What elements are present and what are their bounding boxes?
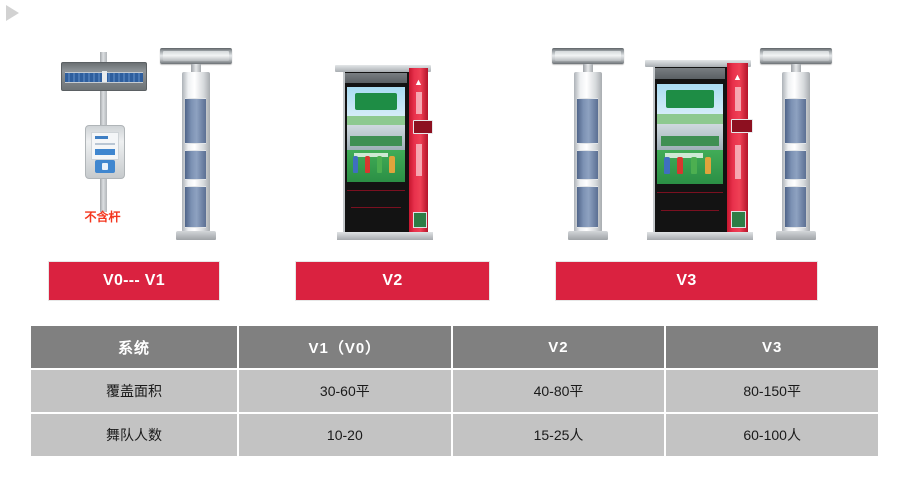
controller-line-2 <box>95 143 115 145</box>
cell-team-v1: 10-20 <box>239 414 451 456</box>
screen-bin-green <box>377 156 382 172</box>
screen-bin-red <box>365 156 370 172</box>
controller-bar <box>95 149 115 155</box>
table-header-row: 系统 V1（V0） V2 V3 <box>31 326 878 368</box>
pole-base <box>176 231 216 240</box>
table-header-cell-v3: V3 <box>666 326 878 368</box>
product-v1-pole <box>160 40 232 240</box>
version-label-v0-v1: V0--- V1 <box>48 261 220 301</box>
pole-base <box>568 231 608 240</box>
controller-display <box>91 132 119 160</box>
screen-bin-label <box>665 153 703 158</box>
screen-bin-red <box>677 157 683 174</box>
cell-team-v3: 60-100人 <box>666 414 878 456</box>
cell-coverage-v2: 40-80平 <box>453 370 665 412</box>
cell-coverage-v3: 80-150平 <box>666 370 878 412</box>
kiosk-decor-line <box>347 190 405 191</box>
screen-bin-label <box>354 153 388 158</box>
pole-panel <box>577 150 598 180</box>
controller-line-1 <box>95 136 108 139</box>
table-header-cell-v1: V1（V0） <box>239 326 451 368</box>
kiosk-vent <box>345 73 407 83</box>
kiosk-vertical-text <box>735 145 741 179</box>
lamp-bar <box>760 48 832 64</box>
cell-coverage-v1: 30-60平 <box>239 370 451 412</box>
product-showcase: 不含杆 ▲ <box>0 40 900 240</box>
product-v0: 不含杆 <box>55 40 150 240</box>
screen-bin-yellow <box>389 156 394 172</box>
row-label-coverage-area: 覆盖面积 <box>31 370 237 412</box>
screen-bin-yellow <box>705 157 711 174</box>
kiosk-vertical-text <box>416 92 422 114</box>
wifi-icon: ▲ <box>414 78 424 86</box>
speaker-bar <box>61 62 147 91</box>
pole-body <box>574 72 602 232</box>
lamp-bar <box>552 48 624 64</box>
pole-panel <box>785 186 806 228</box>
product-v3-kiosk: ▲ <box>645 60 755 240</box>
kiosk-decor-line <box>657 192 723 193</box>
speaker-center-hole <box>102 71 107 82</box>
screen-bin-green <box>691 157 697 174</box>
kiosk-decor-line <box>661 210 719 211</box>
kiosk-base <box>647 232 753 240</box>
kiosk-decor-line <box>351 207 401 208</box>
cell-team-v2: 15-25人 <box>453 414 665 456</box>
screen-title-banner <box>355 93 397 110</box>
screen-mid-banner <box>350 136 401 146</box>
screen-bin-blue <box>353 156 358 172</box>
spec-comparison-table: 系统 V1（V0） V2 V3 覆盖面积 30-60平 40-80平 80-15… <box>29 324 880 458</box>
pole-body <box>182 72 210 232</box>
product-v2-kiosk: ▲ <box>335 65 435 240</box>
pole-not-included-note: 不含杆 <box>55 208 150 225</box>
kiosk-red-column: ▲ <box>409 68 428 234</box>
play-icon[interactable] <box>6 5 19 21</box>
version-label-v3: V3 <box>555 261 818 301</box>
screen-bin-blue <box>664 157 670 174</box>
pole-body <box>782 72 810 232</box>
pole-base <box>776 231 816 240</box>
product-v3-pole-left <box>552 40 624 240</box>
table-row: 舞队人数 10-20 15-25人 60-100人 <box>31 414 878 456</box>
pole-panel <box>785 98 806 144</box>
kiosk-screen[interactable] <box>347 87 405 182</box>
kiosk-red-column: ▲ <box>727 63 748 234</box>
controller-button <box>95 160 115 173</box>
kiosk-pay-module[interactable] <box>413 212 427 228</box>
row-label-team-size: 舞队人数 <box>31 414 237 456</box>
kiosk-pay-module[interactable] <box>731 211 746 228</box>
pole-panel <box>185 98 206 144</box>
product-v3-pole-right <box>760 40 832 240</box>
pole-panel <box>577 98 598 144</box>
kiosk-card-slot[interactable] <box>731 119 753 133</box>
lamp-bar <box>160 48 232 64</box>
kiosk-screen[interactable] <box>657 84 723 184</box>
wifi-icon: ▲ <box>733 73 743 81</box>
pole-panel <box>185 150 206 180</box>
controller-box <box>85 125 125 179</box>
kiosk-vertical-text <box>416 144 422 176</box>
pole-panel <box>185 186 206 228</box>
table-header-cell-system: 系统 <box>31 326 237 368</box>
kiosk-card-slot[interactable] <box>413 120 433 134</box>
kiosk-vertical-text <box>735 87 741 111</box>
version-label-v2: V2 <box>295 261 490 301</box>
pole-panel <box>577 186 598 228</box>
screen-mid-banner <box>661 136 719 146</box>
kiosk-base <box>337 232 433 240</box>
table-row: 覆盖面积 30-60平 40-80平 80-150平 <box>31 370 878 412</box>
table-header-cell-v2: V2 <box>453 326 665 368</box>
screen-title-banner <box>666 90 714 108</box>
version-label-row: V0--- V1 V2 V3 <box>0 261 900 303</box>
pole-panel <box>785 150 806 180</box>
kiosk-vent <box>655 68 725 79</box>
